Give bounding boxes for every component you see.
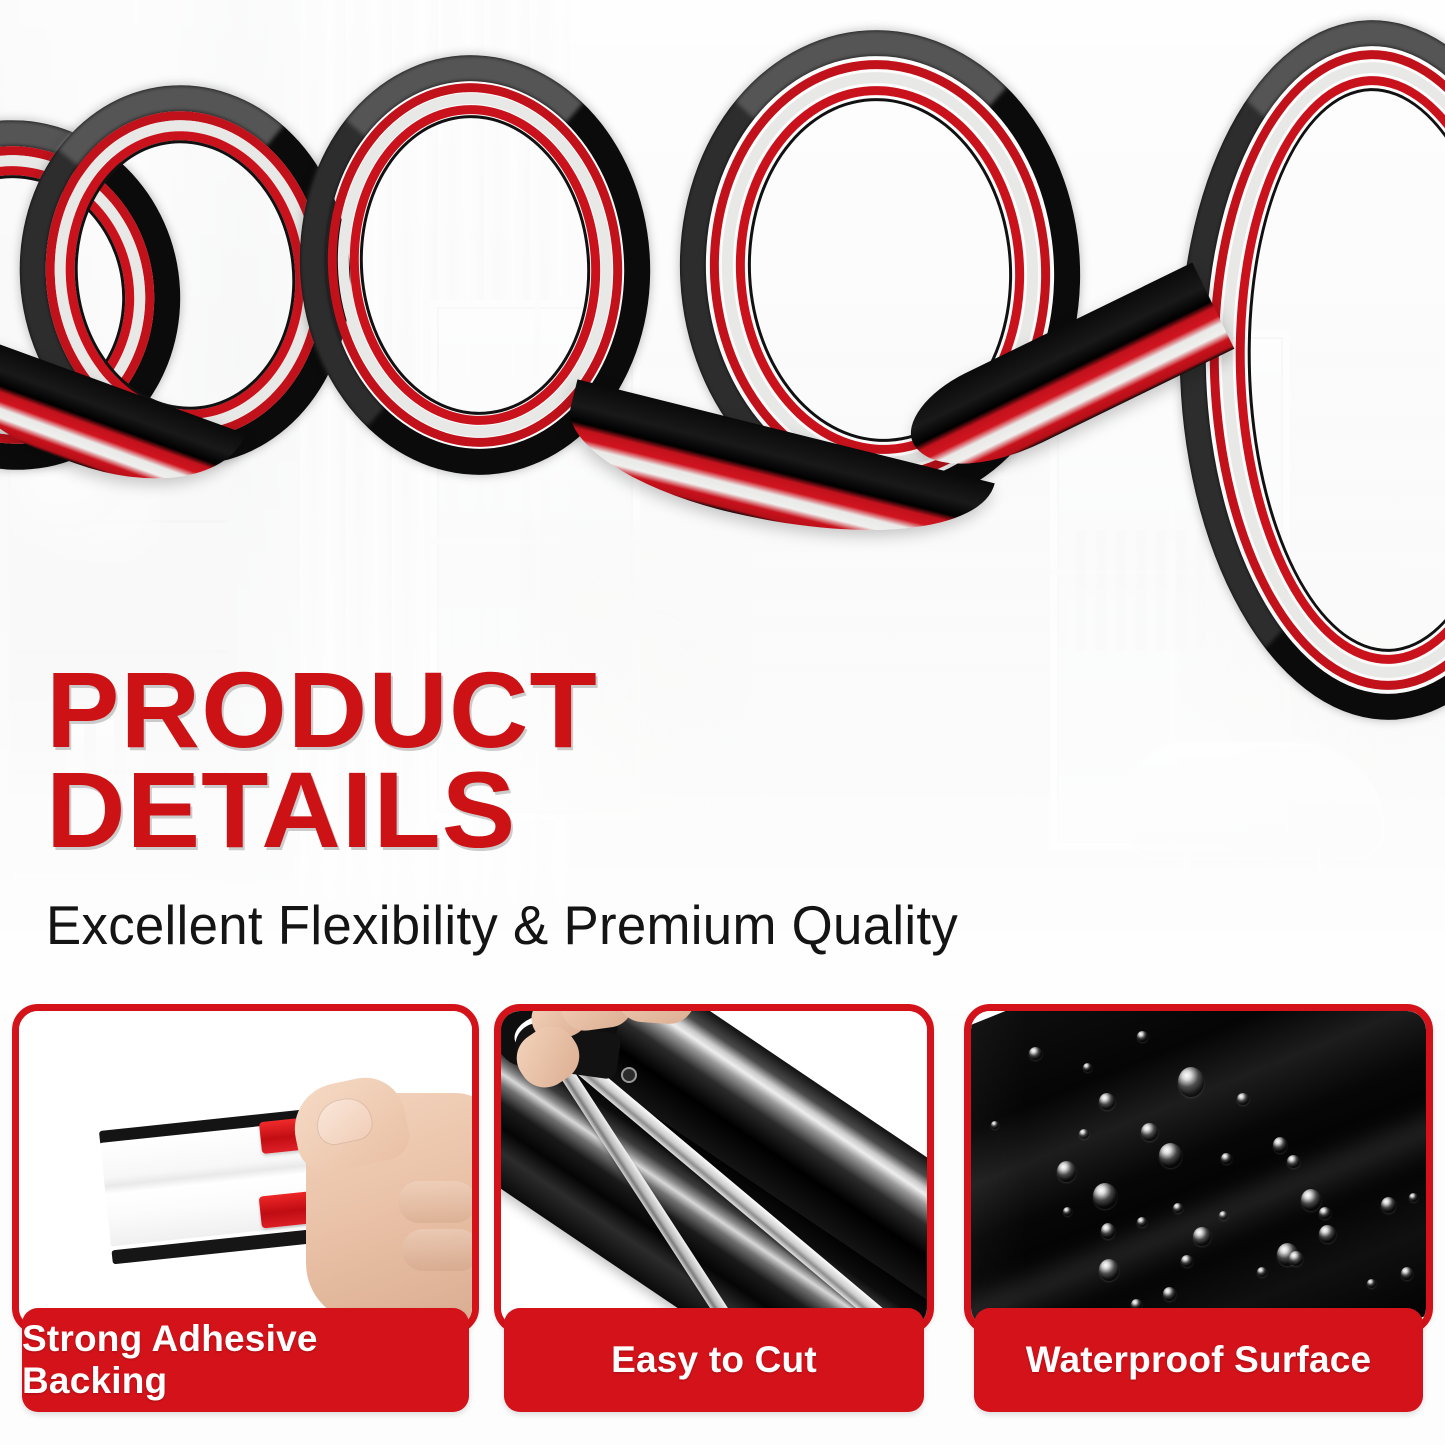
feature-caption-label: Waterproof Surface bbox=[1026, 1339, 1372, 1381]
page-title-line2: DETAILS bbox=[46, 760, 1199, 860]
water-droplet bbox=[1159, 1143, 1182, 1168]
water-droplet bbox=[1287, 1155, 1300, 1168]
feature-caption-adhesive: Strong Adhesive Backing bbox=[22, 1308, 469, 1412]
tape-loop-5 bbox=[1168, 13, 1445, 727]
feature-caption-label: Strong Adhesive Backing bbox=[22, 1318, 469, 1402]
photo-waterproof-surface bbox=[971, 1011, 1426, 1327]
feature-card-adhesive[interactable]: Strong Adhesive Backing bbox=[12, 1004, 479, 1414]
headline-block: PRODUCT DETAILS Excellent Flexibility & … bbox=[46, 660, 1176, 956]
feature-photo-frame bbox=[12, 1004, 479, 1334]
water-droplet bbox=[1173, 1203, 1183, 1213]
page-title: PRODUCT DETAILS bbox=[46, 660, 1199, 860]
water-droplet bbox=[1063, 1207, 1072, 1216]
feature-caption-label: Easy to Cut bbox=[611, 1339, 817, 1381]
hand-holding-scissors bbox=[531, 1011, 711, 1109]
feature-photo-frame bbox=[964, 1004, 1433, 1334]
water-droplet bbox=[1193, 1227, 1211, 1246]
product-infographic-page: PRODUCT DETAILS Excellent Flexibility & … bbox=[0, 0, 1445, 1445]
hero-coiled-tape-image bbox=[0, 0, 1445, 700]
water-droplet bbox=[1178, 1067, 1204, 1097]
water-droplet bbox=[1093, 1183, 1117, 1209]
water-droplet bbox=[1409, 1193, 1418, 1202]
photo-strong-adhesive-backing bbox=[19, 1011, 472, 1327]
page-subtitle: Excellent Flexibility & Premium Quality bbox=[46, 894, 1131, 956]
feature-caption-easy-to-cut: Easy to Cut bbox=[504, 1308, 924, 1412]
water-droplet bbox=[1221, 1153, 1232, 1164]
water-droplet bbox=[1141, 1123, 1158, 1141]
water-droplet bbox=[1237, 1093, 1249, 1105]
water-droplet bbox=[1099, 1093, 1115, 1110]
water-droplet bbox=[1367, 1279, 1376, 1288]
water-droplet bbox=[1099, 1259, 1119, 1281]
water-droplet bbox=[1029, 1047, 1042, 1060]
water-droplet bbox=[1319, 1225, 1336, 1243]
water-droplet bbox=[1257, 1267, 1267, 1277]
water-droplet bbox=[1137, 1217, 1147, 1227]
feature-card-row: Strong Adhesive Backing bbox=[0, 1004, 1445, 1424]
water-droplet bbox=[1273, 1137, 1287, 1153]
water-droplet bbox=[1057, 1161, 1076, 1182]
water-droplet bbox=[1163, 1287, 1176, 1301]
feature-caption-waterproof: Waterproof Surface bbox=[974, 1308, 1423, 1412]
water-droplet bbox=[1181, 1255, 1193, 1267]
water-droplet bbox=[1401, 1267, 1413, 1280]
feature-photo-frame bbox=[494, 1004, 934, 1334]
water-droplet bbox=[991, 1121, 999, 1129]
water-droplet bbox=[1301, 1189, 1321, 1211]
water-droplet bbox=[1381, 1197, 1396, 1213]
water-droplet bbox=[1083, 1063, 1092, 1072]
hand-holding-tape bbox=[276, 1073, 466, 1323]
feature-card-easy-to-cut[interactable]: Easy to Cut bbox=[494, 1004, 934, 1414]
water-droplet bbox=[1079, 1129, 1089, 1139]
water-droplet bbox=[1219, 1211, 1228, 1220]
water-droplet bbox=[1319, 1207, 1331, 1219]
water-droplet bbox=[1101, 1223, 1115, 1239]
water-droplet bbox=[1137, 1031, 1148, 1042]
water-droplet bbox=[1289, 1251, 1303, 1266]
photo-easy-to-cut bbox=[501, 1011, 927, 1327]
feature-card-waterproof[interactable]: Waterproof Surface bbox=[964, 1004, 1433, 1414]
